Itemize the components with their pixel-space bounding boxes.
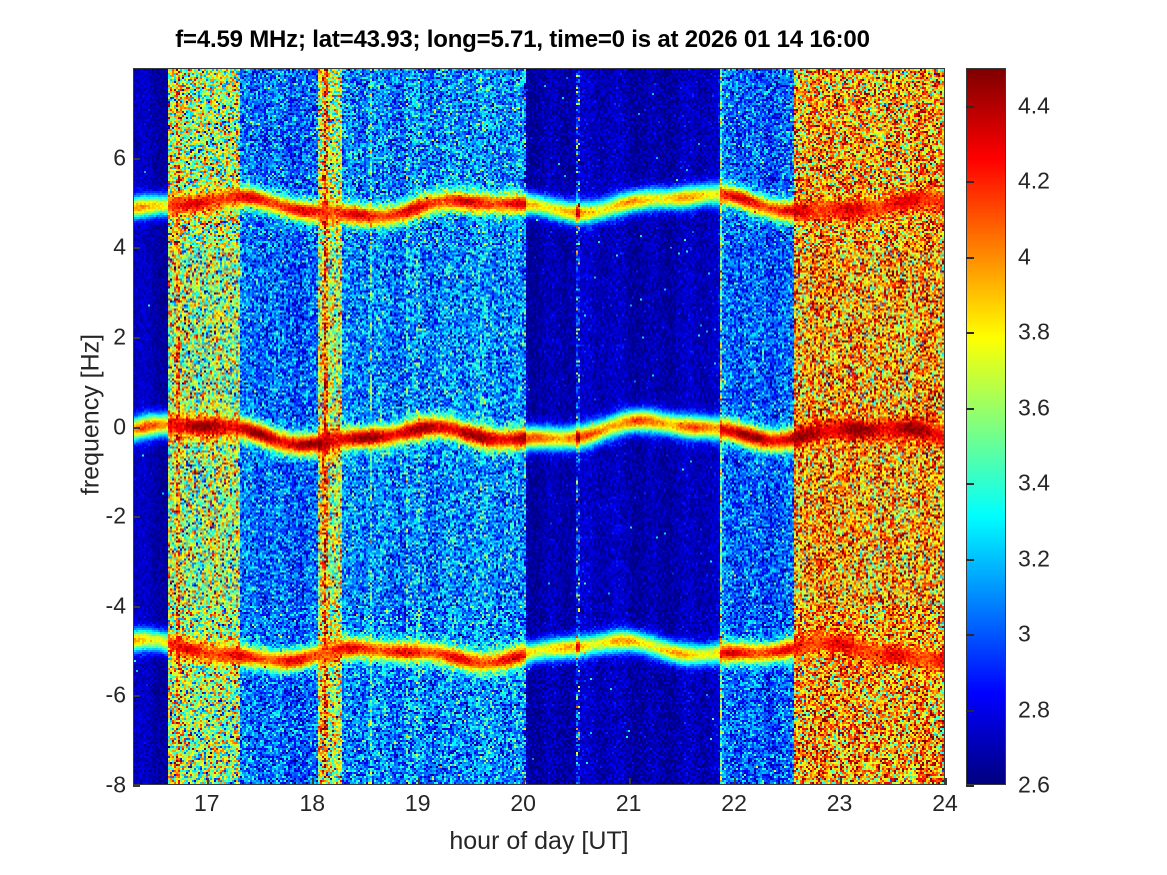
x-axis-tick-labels: 1718192021222324	[133, 790, 945, 824]
colorbar-tick-3p6: 3.6	[1018, 394, 1050, 421]
spectrogram-figure: f=4.59 MHz; lat=43.93; long=5.71, time=0…	[0, 0, 1167, 875]
page-title: f=4.59 MHz; lat=43.93; long=5.71, time=0…	[0, 26, 1045, 54]
y-tick-mark	[133, 785, 140, 787]
colorbar-tick-mark	[966, 257, 974, 259]
colorbar-tick-2p6: 2.6	[1018, 772, 1050, 799]
colorbar-tick-mark	[966, 106, 974, 108]
x-tick-mark	[945, 778, 947, 785]
y-tick-mark	[133, 606, 140, 608]
colorbar-tick-4: 4	[1018, 243, 1031, 270]
colorbar[interactable]	[966, 68, 1006, 785]
x-tick-mark	[523, 778, 525, 785]
colorbar-tick-mark	[966, 710, 974, 712]
x-axis-title: hour of day [UT]	[133, 827, 945, 856]
y-axis-title-wrap: frequency [Hz]	[46, 60, 76, 790]
colorbar-tick-3p8: 3.8	[1018, 319, 1050, 346]
colorbar-tick-mark	[966, 483, 974, 485]
x-tick-mark	[840, 778, 842, 785]
x-axis-tick-22: 22	[704, 790, 764, 817]
colorbar-tick-2p8: 2.8	[1018, 696, 1050, 723]
colorbar-tick-mark	[966, 559, 974, 561]
x-tick-mark	[418, 778, 420, 785]
x-tick-mark	[207, 778, 209, 785]
y-tick-mark	[133, 158, 140, 160]
y-tick-mark	[133, 695, 140, 697]
colorbar-tick-mark	[966, 408, 974, 410]
y-axis-tick-minus6: -6	[80, 682, 126, 709]
y-tick-mark	[133, 516, 140, 518]
x-axis-tick-20: 20	[493, 790, 553, 817]
colorbar-tick-3: 3	[1018, 621, 1031, 648]
y-axis-title: frequency [Hz]	[77, 155, 106, 675]
y-tick-mark	[133, 427, 140, 429]
x-axis-tick-19: 19	[388, 790, 448, 817]
colorbar-tick-4p4: 4.4	[1018, 92, 1050, 119]
x-tick-mark	[629, 778, 631, 785]
y-tick-mark	[133, 247, 140, 249]
colorbar-tick-mark	[966, 634, 974, 636]
colorbar-tick-labels: 4.44.243.83.63.43.232.82.6	[1012, 68, 1102, 785]
x-axis-tick-23: 23	[810, 790, 870, 817]
colorbar-tick-mark	[966, 785, 974, 787]
x-axis-tick-18: 18	[282, 790, 342, 817]
spectrogram-plot-area[interactable]	[133, 68, 945, 785]
colorbar-tick-3p2: 3.2	[1018, 545, 1050, 572]
x-tick-mark	[734, 778, 736, 785]
x-tick-mark	[312, 778, 314, 785]
x-axis-tick-17: 17	[177, 790, 237, 817]
colorbar-tick-mark	[966, 181, 974, 183]
y-axis-tick-minus8: -8	[80, 772, 126, 799]
colorbar-canvas	[967, 69, 1005, 784]
y-tick-mark	[133, 337, 140, 339]
spectrogram-canvas	[134, 69, 944, 784]
colorbar-tick-3p4: 3.4	[1018, 470, 1050, 497]
x-axis-tick-21: 21	[599, 790, 659, 817]
x-axis-tick-24: 24	[915, 790, 975, 817]
colorbar-tick-mark	[966, 332, 974, 334]
colorbar-tick-4p2: 4.2	[1018, 168, 1050, 195]
